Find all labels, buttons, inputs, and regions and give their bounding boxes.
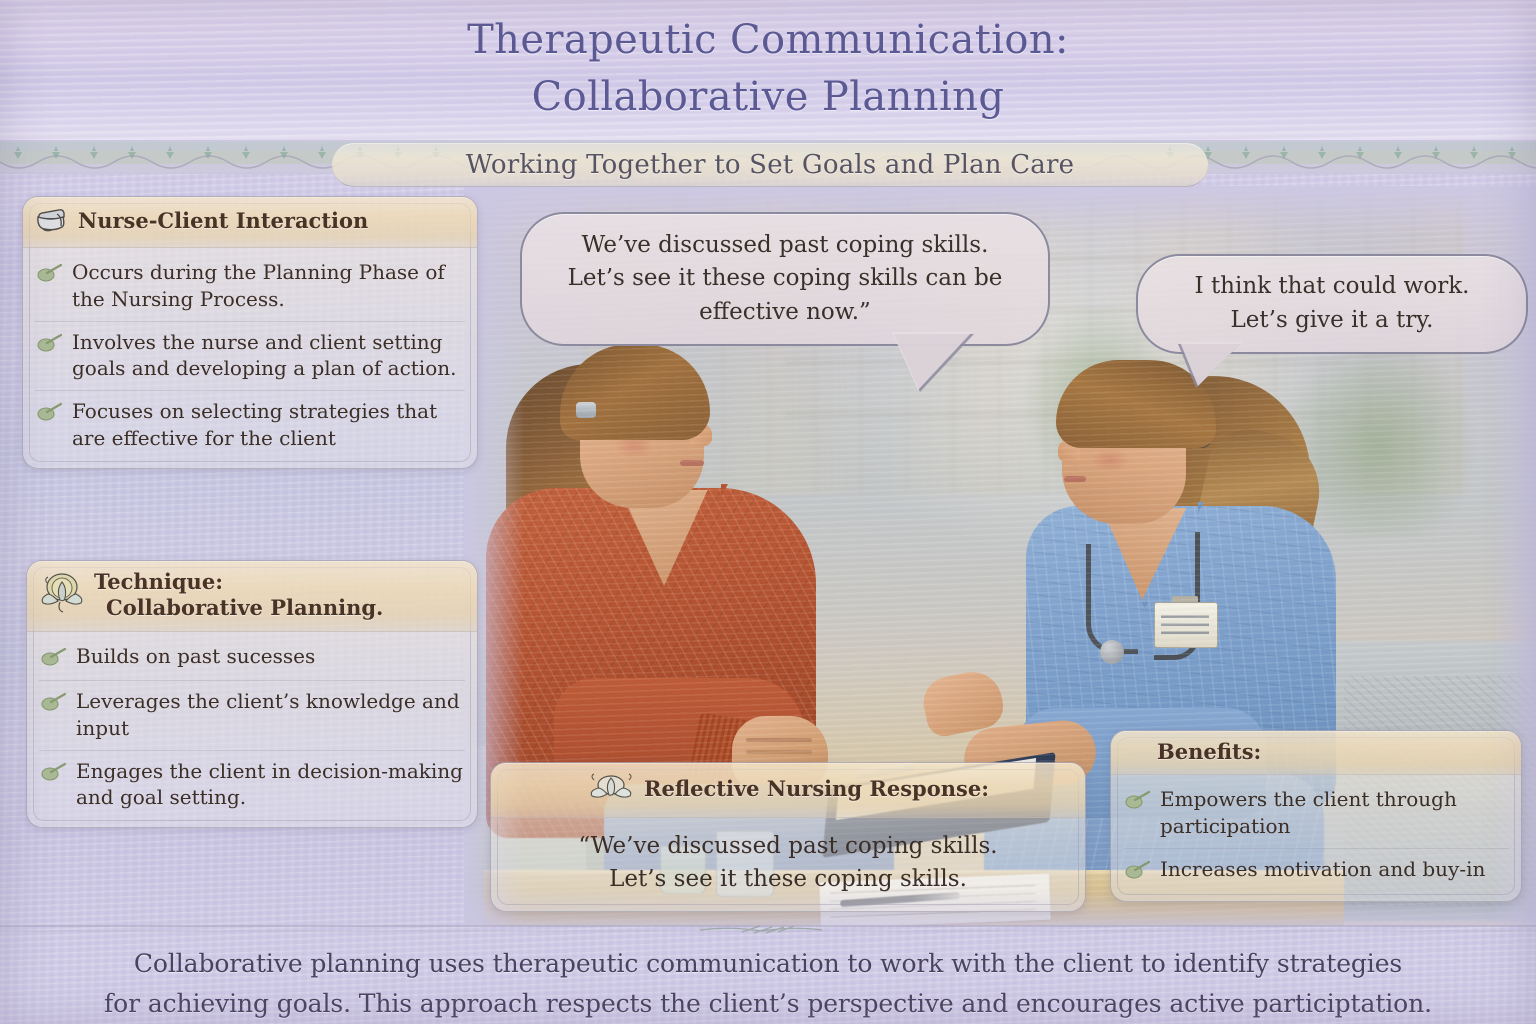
nurse-cap-icon <box>35 205 69 238</box>
id-badge <box>1154 602 1218 648</box>
card-header: Nurse-Client Interaction <box>23 197 477 248</box>
leaf-check-icon <box>1125 860 1151 885</box>
nurse-bubble-line1: We’ve discussed past coping skills. <box>582 232 989 258</box>
list-item: Engages the client in decision-making an… <box>39 751 465 820</box>
card-title: Benefits: <box>1157 739 1261 765</box>
subtitle-banner: Working Together to Set Goals and Plan C… <box>332 143 1208 187</box>
card-title: Reflective Nursing Response: <box>644 776 989 802</box>
nurse-bubble-line3: effective now.” <box>699 299 871 325</box>
quote-line1: “We’ve discussed past coping skills. <box>578 833 997 859</box>
footer-summary: Collaborative planning uses therapeutic … <box>0 944 1536 1023</box>
nurse-cheek <box>1090 448 1130 472</box>
list-item: Occurs during the Planning Phase of the … <box>35 252 465 322</box>
leaf-check-icon <box>37 263 63 288</box>
subtitle-text: Working Together to Set Goals and Plan C… <box>466 150 1074 180</box>
card-title-line1: Technique: <box>94 569 223 594</box>
card-reflective-nursing-response: Reflective Nursing Response: “We’ve disc… <box>490 762 1086 912</box>
list-item: Focuses on selecting strategies that are… <box>35 391 465 460</box>
stethoscope-left-tube <box>1086 544 1138 654</box>
card-benefits: Benefits: Empowers the client through pa… <box>1110 730 1522 902</box>
nurse-bubble-line2: Let’s see it these coping skills can be <box>568 265 1003 291</box>
client-bubble-line2: Let’s give it a try. <box>1231 307 1434 333</box>
card-title-line2: Collaborative Planning. <box>94 595 383 620</box>
page-title-line2: Collaborative Planning <box>0 69 1536 126</box>
leaf-check-icon <box>41 692 67 717</box>
client-speech-bubble: I think that could work. Let’s give it a… <box>1136 254 1528 354</box>
card-title: Nurse-Client Interaction <box>78 208 368 234</box>
client-bubble-tail <box>1180 342 1242 386</box>
nurse-bubble-tail <box>892 332 972 390</box>
list-item: Empowers the client through participatio… <box>1123 779 1509 849</box>
page-title-line1: Therapeutic Communication: <box>0 12 1536 69</box>
lotus-flower-icon <box>587 771 635 808</box>
client-bubble-line1: I think that could work. <box>1195 273 1470 299</box>
card-body: Occurs during the Planning Phase of the … <box>23 248 477 468</box>
lotus-flower-icon <box>39 572 85 619</box>
card-header: Technique: Collaborative Planning. <box>27 561 477 632</box>
footer-line1: Collaborative planning uses therapeutic … <box>134 949 1402 978</box>
card-header: Benefits: <box>1111 731 1521 775</box>
client-lips <box>680 460 704 466</box>
footer-divider <box>0 922 1536 938</box>
stethoscope-bell <box>1100 640 1124 664</box>
list-item: Builds on past sucesses <box>39 636 465 681</box>
card-nurse-client-interaction: Nurse-Client Interaction Occurs during t… <box>22 196 478 469</box>
title-zone: Therapeutic Communication: Collaborative… <box>0 0 1536 140</box>
leaf-check-icon <box>41 647 67 672</box>
leaf-check-icon <box>37 333 63 358</box>
leaf-check-icon <box>37 402 63 427</box>
client-hair-clip <box>576 402 596 418</box>
list-item: Leverages the client’s knowledge and inp… <box>39 681 465 751</box>
card-body: Empowers the client through participatio… <box>1111 775 1521 901</box>
nurse-lips <box>1064 476 1086 482</box>
quote-line2: Let’s see it these coping skills. <box>609 866 967 892</box>
reflective-quote: “We’ve discussed past coping skills. Let… <box>491 818 1085 911</box>
client-hair-top <box>560 344 710 440</box>
nurse-speech-bubble: We’ve discussed past coping skills. Let’… <box>520 212 1050 346</box>
card-technique: Technique: Collaborative Planning. Build… <box>26 560 478 828</box>
card-header: Reflective Nursing Response: <box>491 763 1085 818</box>
leaf-check-icon <box>41 762 67 787</box>
leaf-check-icon <box>1125 790 1151 815</box>
footer-line2: for achieving goals. This approach respe… <box>104 989 1432 1018</box>
card-body: Builds on past sucesses Leverages the cl… <box>27 632 477 827</box>
list-item: Increases motivation and buy-in <box>1123 849 1509 893</box>
list-item: Involves the nurse and client setting go… <box>35 322 465 392</box>
